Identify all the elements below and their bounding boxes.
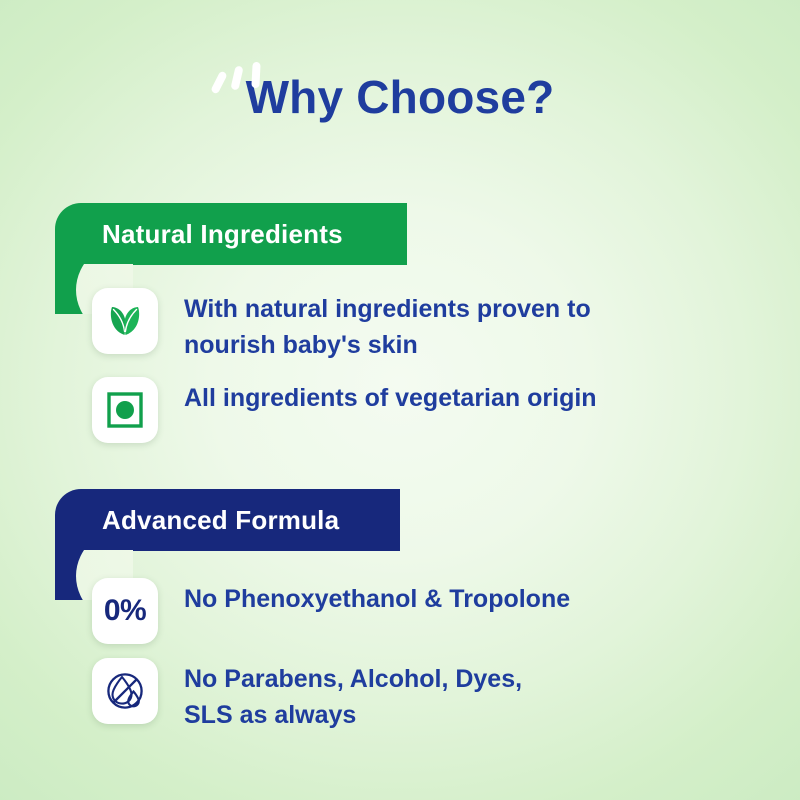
feature-list-natural: With natural ingredients proven to nouri… xyxy=(0,288,800,457)
why-choose-poster: Why Choose? Natural Ingredients With nat xyxy=(0,0,800,800)
section-banner-bar: Advanced Formula xyxy=(55,489,400,551)
vegetarian-mark-icon xyxy=(92,377,158,443)
feature-item: 0% No Phenoxyethanol & Tropolone xyxy=(0,578,800,644)
feature-text: All ingredients of vegetarian origin xyxy=(184,377,597,417)
section-heading: Natural Ingredients xyxy=(55,219,343,250)
sparkle-icon xyxy=(213,60,273,94)
page-title: Why Choose? xyxy=(0,60,800,120)
zero-percent-label: 0% xyxy=(104,594,146,628)
leaves-icon xyxy=(92,288,158,354)
feature-text: No Phenoxyethanol & Tropolone xyxy=(184,578,570,618)
feature-item: All ingredients of vegetarian origin xyxy=(0,377,800,443)
feature-item: With natural ingredients proven to nouri… xyxy=(0,288,800,363)
title-block: Why Choose? xyxy=(0,60,800,120)
feature-item: No Parabens, Alcohol, Dyes, SLS as alway… xyxy=(0,658,800,733)
zero-percent-icon: 0% xyxy=(92,578,158,644)
section-banner-bar: Natural Ingredients xyxy=(55,203,407,265)
feature-text: No Parabens, Alcohol, Dyes, SLS as alway… xyxy=(184,658,522,733)
no-droplet-icon xyxy=(92,658,158,724)
feature-list-advanced: 0% No Phenoxyethanol & Tropolone No Para… xyxy=(0,578,800,747)
feature-text: With natural ingredients proven to nouri… xyxy=(184,288,591,363)
section-heading: Advanced Formula xyxy=(55,505,339,536)
